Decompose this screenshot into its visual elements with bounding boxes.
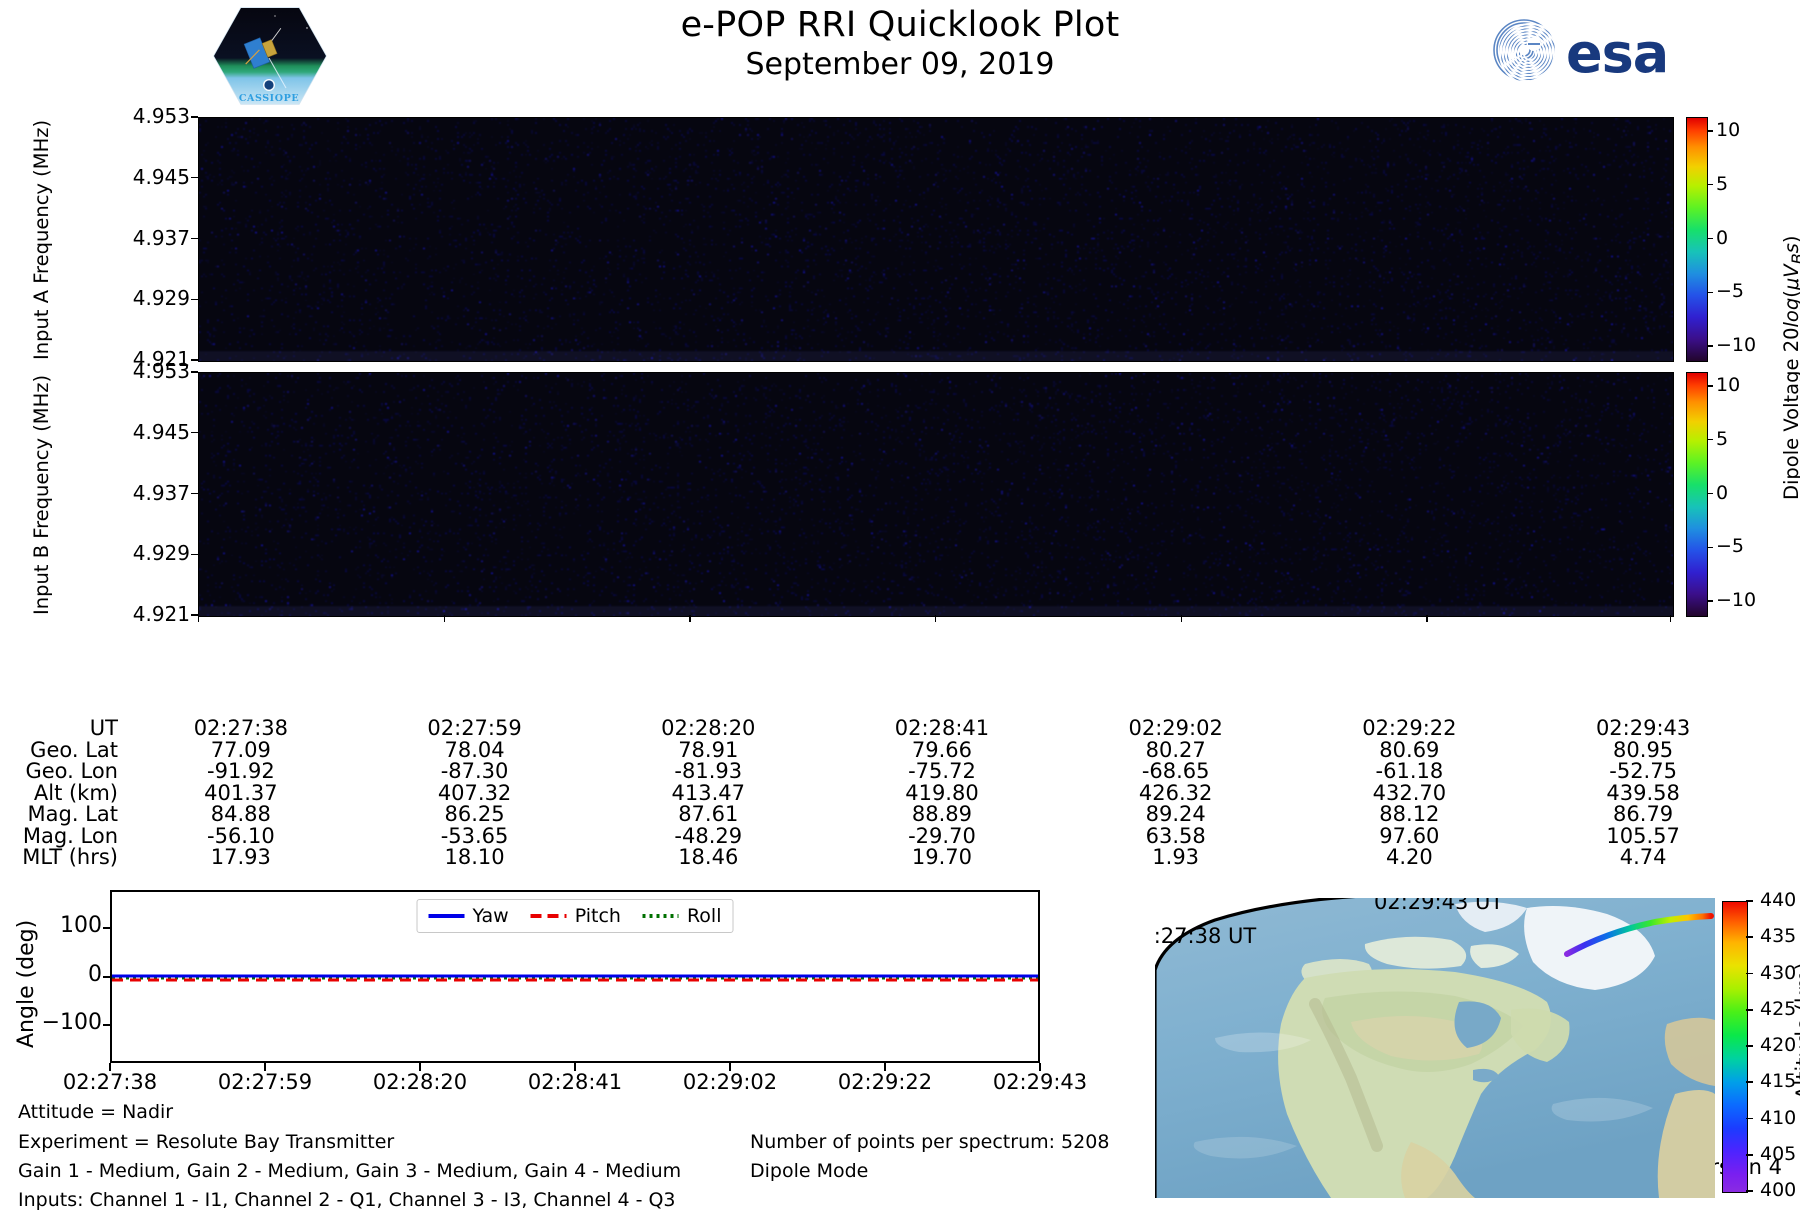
attitude-xtick: 02:29:02	[660, 1070, 800, 1094]
ephemeris-row: Alt (km)401.37407.32413.47419.80426.3243…	[0, 783, 1760, 805]
spectrogram-a-ytickmark	[191, 177, 198, 178]
ephemeris-row-label: Alt (km)	[0, 783, 124, 805]
title-block: e-POP RRI Quicklook Plot September 09, 2…	[0, 4, 1800, 84]
spectrogram-b-xtickmark	[1181, 615, 1182, 622]
ephemeris-cell: 80.95	[1526, 740, 1760, 762]
ephemeris-cell: 02:27:59	[358, 718, 592, 740]
altitude-colorbar-tickmark	[1746, 1190, 1753, 1192]
ephemeris-cell: 401.37	[124, 783, 358, 805]
spectrogram-a-ytickmark	[191, 359, 198, 360]
ephemeris-cell: -75.72	[825, 761, 1059, 783]
spectrogram-input-b	[198, 372, 1674, 617]
colorbar-a-tickmark	[1707, 292, 1713, 293]
colorbar-a-gradient	[1687, 118, 1707, 361]
altitude-colorbar-tick: 415	[1760, 1070, 1796, 1092]
attitude-ytick: 100	[20, 913, 102, 938]
spectrogram-a-ylabel: Input A Frequency (MHz)	[30, 120, 53, 360]
ephemeris-cell: 77.09	[124, 740, 358, 762]
attitude-ytickmark	[103, 976, 111, 978]
colorbar-b-tick: 10	[1716, 374, 1740, 396]
ephemeris-row: Mag. Lon-56.10-53.65-48.29-29.7063.5897.…	[0, 826, 1760, 848]
ephemeris-cell: -81.93	[591, 761, 825, 783]
colorbar-a-tickmark	[1707, 130, 1713, 131]
ephemeris-row: Mag. Lat84.8886.2587.6188.8989.2488.1286…	[0, 804, 1760, 826]
footer-attitude: Attitude = Nadir	[18, 1100, 173, 1124]
colorbar-input-b	[1686, 372, 1708, 617]
ephemeris-cell: 80.69	[1293, 740, 1527, 762]
spectrogram-a-ytick: 4.937	[85, 226, 190, 250]
attitude-xtick: 02:28:20	[350, 1070, 490, 1094]
ephemeris-cell: -29.70	[825, 826, 1059, 848]
legend-label-roll: Roll	[687, 905, 722, 927]
ephemeris-row-label: Mag. Lat	[0, 804, 124, 826]
altitude-colorbar-tick: 420	[1760, 1034, 1796, 1056]
ephemeris-cell: 419.80	[825, 783, 1059, 805]
ephemeris-cell: 02:28:20	[591, 718, 825, 740]
ephemeris-cell: 63.58	[1059, 826, 1293, 848]
ephemeris-cell: 02:29:22	[1293, 718, 1527, 740]
colorbar-a-tickmark	[1707, 184, 1713, 185]
attitude-xtickmark	[574, 1063, 576, 1071]
spectrogram-b-xtickmark	[444, 615, 445, 622]
ephemeris-cell: 439.58	[1526, 783, 1760, 805]
colorbar-a-tick: 10	[1716, 119, 1740, 141]
ephemeris-cell: -56.10	[124, 826, 358, 848]
ephemeris-cell: -61.18	[1293, 761, 1527, 783]
page-subtitle-date: September 09, 2019	[0, 46, 1800, 84]
colorbar-b-tickmark	[1707, 493, 1713, 494]
legend-swatch-pitch	[531, 914, 567, 918]
ephemeris-row-label: Geo. Lat	[0, 740, 124, 762]
ephemeris-row: Geo. Lon-91.92-87.30-81.93-75.72-68.65-6…	[0, 761, 1760, 783]
spectrogram-a-ytickmark	[191, 238, 198, 239]
attitude-legend-item: Pitch	[531, 905, 621, 927]
ephemeris-cell: -52.75	[1526, 761, 1760, 783]
attitude-xtickmark	[109, 1063, 111, 1071]
spectrogram-b-xtickmark	[198, 615, 199, 622]
altitude-colorbar-tick: 400	[1760, 1179, 1796, 1201]
spectrogram-b-ylabel: Input B Frequency (MHz)	[30, 375, 53, 615]
map-annotation-end: 02:29:43 UT	[1374, 898, 1503, 914]
spectrogram-b-ytickmark	[191, 371, 198, 372]
ephemeris-cell: 02:27:38	[124, 718, 358, 740]
footer-points-per-spectrum: Number of points per spectrum: 5208	[750, 1130, 1109, 1154]
footer-inputs: Inputs: Channel 1 - I1, Channel 2 - Q1, …	[18, 1188, 676, 1212]
altitude-colorbar-tick: 425	[1760, 998, 1796, 1020]
spectrogram-a-ytick: 4.929	[85, 286, 190, 310]
attitude-xtickmark	[1039, 1063, 1041, 1071]
ephemeris-cell: -91.92	[124, 761, 358, 783]
colorbar-b-tickmark	[1707, 600, 1713, 601]
altitude-colorbar-gradient	[1723, 902, 1747, 1192]
altitude-colorbar	[1722, 901, 1748, 1193]
colorbar-b-tickmark	[1707, 547, 1713, 548]
spectrogram-b-ytick: 4.945	[85, 420, 190, 444]
ephemeris-cell: 19.70	[825, 847, 1059, 869]
altitude-colorbar-tickmark	[1746, 1118, 1753, 1120]
attitude-xtickmark	[729, 1063, 731, 1071]
ephemeris-row-label: Mag. Lon	[0, 826, 124, 848]
attitude-xtick: 02:27:38	[40, 1070, 180, 1094]
ephemeris-row: Geo. Lat77.0978.0478.9179.6680.2780.6980…	[0, 740, 1760, 762]
spectrogram-b-ytick: 4.929	[85, 541, 190, 565]
spectrogram-b-ytickmark	[191, 493, 198, 494]
ephemeris-cell: -68.65	[1059, 761, 1293, 783]
ephemeris-cell: 80.27	[1059, 740, 1293, 762]
attitude-series-yaw	[112, 974, 1038, 978]
spectrogram-b-ytick: 4.953	[85, 359, 190, 383]
ephemeris-row-label: Geo. Lon	[0, 761, 124, 783]
attitude-legend-item: Yaw	[429, 905, 509, 927]
altitude-colorbar-tick: 430	[1760, 962, 1796, 984]
attitude-legend-item: Roll	[643, 905, 722, 927]
colorbar-a-tick: −5	[1716, 280, 1744, 302]
spectrogram-b-xtickmark	[1670, 615, 1671, 622]
attitude-xtickmark	[264, 1063, 266, 1071]
spectrogram-b-ytickmark	[191, 432, 198, 433]
colorbar-b-tick: 5	[1716, 428, 1728, 450]
ephemeris-row-label: MLT (hrs)	[0, 847, 124, 869]
attitude-xtick: 02:28:41	[505, 1070, 645, 1094]
ephemeris-cell: 86.79	[1526, 804, 1760, 826]
legend-label-yaw: Yaw	[473, 905, 509, 927]
altitude-colorbar-tickmark	[1746, 936, 1753, 938]
attitude-xtickmark	[419, 1063, 421, 1071]
spectrogram-a-ytickmark	[191, 116, 198, 117]
altitude-colorbar-tickmark	[1746, 1154, 1753, 1156]
footer-gains: Gain 1 - Medium, Gain 2 - Medium, Gain 3…	[18, 1159, 681, 1183]
altitude-colorbar-tickmark	[1746, 1081, 1753, 1083]
altitude-colorbar-tick: 435	[1760, 925, 1796, 947]
ephemeris-cell: 89.24	[1059, 804, 1293, 826]
ephemeris-cell: 87.61	[591, 804, 825, 826]
ephemeris-table: UT02:27:3802:27:5902:28:2002:28:4102:29:…	[0, 718, 1800, 869]
ephemeris-cell: 88.12	[1293, 804, 1527, 826]
ephemeris-cell: 18.46	[591, 847, 825, 869]
attitude-series-pitch	[112, 978, 1038, 982]
altitude-colorbar-tick: 410	[1760, 1107, 1796, 1129]
ephemeris-cell: 84.88	[124, 804, 358, 826]
ephemeris-cell: 78.91	[591, 740, 825, 762]
attitude-plot: YawPitchRoll	[110, 890, 1040, 1063]
attitude-ytickmark	[103, 1024, 111, 1026]
ephemeris-cell: 17.93	[124, 847, 358, 869]
ephemeris-cell: 413.47	[591, 783, 825, 805]
colorbar-b-tick: −5	[1716, 535, 1744, 557]
altitude-colorbar-tick: 405	[1760, 1143, 1796, 1165]
ephemeris-cell: 4.20	[1293, 847, 1527, 869]
ephemeris-cell: 79.66	[825, 740, 1059, 762]
ephemeris-cell: 18.10	[358, 847, 592, 869]
altitude-colorbar-tick: 440	[1760, 889, 1796, 911]
ephemeris-row: UT02:27:3802:27:5902:28:2002:28:4102:29:…	[0, 718, 1760, 740]
legend-swatch-roll	[643, 914, 679, 918]
colorbar-a-label: Dipole Voltage 20log(μVBs)	[1780, 235, 1800, 500]
ephemeris-cell: 88.89	[825, 804, 1059, 826]
attitude-xtick: 02:29:43	[970, 1070, 1110, 1094]
colorbar-a-tick: −10	[1716, 334, 1756, 356]
attitude-ytick: −100	[20, 1010, 102, 1035]
spectrogram-b-canvas	[199, 373, 1673, 616]
spectrogram-b-xtickmark	[935, 615, 936, 622]
footer-experiment: Experiment = Resolute Bay Transmitter	[18, 1130, 394, 1154]
ephemeris-cell: 02:29:02	[1059, 718, 1293, 740]
spectrogram-b-ytick: 4.921	[85, 602, 190, 626]
colorbar-input-a	[1686, 117, 1708, 362]
spectrogram-a-ytick: 4.945	[85, 165, 190, 189]
legend-swatch-yaw	[429, 914, 465, 918]
attitude-ytick: 0	[20, 962, 102, 987]
ephemeris-cell: 426.32	[1059, 783, 1293, 805]
colorbar-b-tickmark	[1707, 439, 1713, 440]
altitude-colorbar-tickmark	[1746, 1009, 1753, 1011]
spectrogram-a-ytickmark	[191, 299, 198, 300]
attitude-xtick: 02:27:59	[195, 1070, 335, 1094]
ephemeris-row-label: UT	[0, 718, 124, 740]
spectrogram-b-ytick: 4.937	[85, 481, 190, 505]
ephemeris-cell: 02:28:41	[825, 718, 1059, 740]
ephemeris-cell: 4.74	[1526, 847, 1760, 869]
altitude-colorbar-tickmark	[1746, 1045, 1753, 1047]
attitude-legend: YawPitchRoll	[417, 899, 734, 933]
colorbar-b-tickmark	[1707, 385, 1713, 386]
colorbar-a-tickmark	[1707, 238, 1713, 239]
colorbar-b-gradient	[1687, 373, 1707, 616]
colorbar-a-tickmark	[1707, 345, 1713, 346]
spectrogram-b-xtickmark	[689, 615, 690, 622]
ephemeris-cell: 86.25	[358, 804, 592, 826]
attitude-ytickmark	[103, 927, 111, 929]
footer-dipole-mode: Dipole Mode	[750, 1159, 868, 1183]
spectrogram-input-a	[198, 117, 1674, 362]
ephemeris-cell: 1.93	[1059, 847, 1293, 869]
spectrogram-a-canvas	[199, 118, 1673, 361]
svg-text:CASSIOPE: CASSIOPE	[239, 93, 299, 104]
ground-track-map: 02:29:43 UT 02:27:38 UT	[1155, 898, 1715, 1198]
ephemeris-cell: -87.30	[358, 761, 592, 783]
colorbar-b-tick: −10	[1716, 589, 1756, 611]
attitude-xtick: 02:29:22	[815, 1070, 955, 1094]
ephemeris-grid: UT02:27:3802:27:5902:28:2002:28:4102:29:…	[0, 718, 1760, 869]
ephemeris-cell: 105.57	[1526, 826, 1760, 848]
ephemeris-cell: -48.29	[591, 826, 825, 848]
spectrogram-a-ytick: 4.953	[85, 104, 190, 128]
ephemeris-cell: 407.32	[358, 783, 592, 805]
colorbar-a-tick: 0	[1716, 227, 1728, 249]
page-title: e-POP RRI Quicklook Plot	[0, 4, 1800, 46]
ephemeris-cell: 432.70	[1293, 783, 1527, 805]
ephemeris-cell: 97.60	[1293, 826, 1527, 848]
colorbar-b-tick: 0	[1716, 482, 1728, 504]
altitude-colorbar-tickmark	[1746, 973, 1753, 975]
attitude-xtickmark	[884, 1063, 886, 1071]
ephemeris-cell: 78.04	[358, 740, 592, 762]
altitude-colorbar-tickmark	[1746, 900, 1753, 902]
ephemeris-cell: -53.65	[358, 826, 592, 848]
legend-label-pitch: Pitch	[575, 905, 621, 927]
ephemeris-cell: 02:29:43	[1526, 718, 1760, 740]
spectrogram-b-xtickmark	[1426, 615, 1427, 622]
ephemeris-row: MLT (hrs)17.9318.1018.4619.701.934.204.7…	[0, 847, 1760, 869]
colorbar-a-tick: 5	[1716, 173, 1728, 195]
spectrogram-b-ytickmark	[191, 614, 198, 615]
map-annotation-start: 02:27:38 UT	[1155, 924, 1256, 948]
spectrogram-b-ytickmark	[191, 554, 198, 555]
